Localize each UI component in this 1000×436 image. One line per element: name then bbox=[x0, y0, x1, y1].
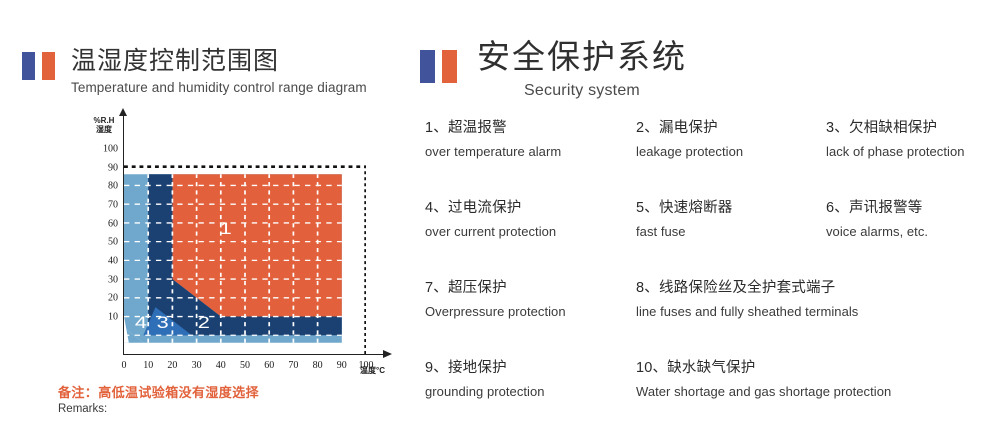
feature-label-chinese: 5、快速熔断器 bbox=[636, 196, 826, 217]
security-system-panel: 安全保护系统 Security system 1、超温报警 over tempe… bbox=[415, 0, 1000, 412]
feature-label-english: Water shortage and gas shortage protecti… bbox=[636, 384, 1000, 399]
feature-label-chinese: 4、过电流保护 bbox=[425, 196, 636, 217]
feature-label-chinese: 7、超压保护 bbox=[425, 276, 636, 297]
feature-row: 9、接地保护 grounding protection 10、缺水缺气保护 Wa… bbox=[425, 356, 1000, 436]
temperature-humidity-panel: 温湿度控制范围图 Temperature and humidity contro… bbox=[0, 0, 415, 412]
feature-item-8: 8、线路保险丝及全护套式端子 line fuses and fully shea… bbox=[636, 276, 1000, 356]
right-title-english: Security system bbox=[477, 82, 687, 100]
feature-item-5: 5、快速熔断器 fast fuse bbox=[636, 196, 826, 276]
y-axis-title: %R.H湿度 bbox=[88, 116, 120, 134]
feature-item-2: 2、漏电保护 leakage protection bbox=[636, 116, 826, 196]
y-tick-label: 50 bbox=[88, 237, 118, 248]
feature-label-english: voice alarms, etc. bbox=[826, 224, 1000, 239]
right-section-header: 安全保护系统 Security system bbox=[420, 40, 687, 100]
security-feature-grid: 1、超温报警 over temperature alarm 2、漏电保护 lea… bbox=[425, 116, 1000, 436]
y-tick-label: 90 bbox=[88, 162, 118, 173]
x-tick-label: 60 bbox=[256, 360, 282, 371]
temperature-humidity-chart: %R.H湿度 温度°C 100 90 80 70 60 50 40 30 20 … bbox=[88, 112, 408, 367]
feature-item-3: 3、欠相缺相保护 lack of phase protection bbox=[826, 116, 1000, 196]
x-axis-arrow-icon bbox=[383, 350, 392, 358]
chart-zone-1-area bbox=[172, 174, 341, 316]
feature-item-1: 1、超温报警 over temperature alarm bbox=[425, 116, 636, 196]
x-tick-label: 80 bbox=[305, 360, 331, 371]
accent-bar-orange-icon bbox=[42, 52, 55, 80]
remarks-block: 备注：高低温试验箱没有湿度选择 Remarks: bbox=[58, 382, 259, 415]
feature-label-english: line fuses and fully sheathed terminals bbox=[636, 304, 1000, 319]
chart-zone-label-2: 2 bbox=[198, 313, 210, 332]
y-tick-label: 100 bbox=[88, 144, 118, 155]
left-section-header: 温湿度控制范围图 Temperature and humidity contro… bbox=[22, 48, 367, 95]
chart-zone-label-1: 1 bbox=[220, 219, 232, 238]
feature-label-english: grounding protection bbox=[425, 384, 636, 399]
y-tick-label: 40 bbox=[88, 256, 118, 267]
feature-label-chinese: 8、线路保险丝及全护套式端子 bbox=[636, 276, 1000, 297]
y-tick-label: 80 bbox=[88, 181, 118, 192]
accent-bars-icon bbox=[22, 52, 55, 80]
left-title-english: Temperature and humidity control range d… bbox=[71, 80, 367, 95]
accent-bar-orange-icon bbox=[442, 50, 457, 83]
feature-row: 4、过电流保护 over current protection 5、快速熔断器 … bbox=[425, 196, 1000, 276]
chart-zone-label-4: 4 bbox=[135, 313, 147, 332]
x-tick-label: 40 bbox=[208, 360, 234, 371]
feature-label-chinese: 9、接地保护 bbox=[425, 356, 636, 377]
feature-item-4: 4、过电流保护 over current protection bbox=[425, 196, 636, 276]
chart-zone-label-3: 3 bbox=[157, 313, 169, 332]
feature-label-english: over current protection bbox=[425, 224, 636, 239]
accent-bar-blue-icon bbox=[22, 52, 35, 80]
feature-row: 7、超压保护 Overpressure protection 8、线路保险丝及全… bbox=[425, 276, 1000, 356]
accent-bars-icon bbox=[420, 50, 457, 83]
remarks-chinese: 备注：高低温试验箱没有湿度选择 bbox=[58, 382, 259, 401]
x-tick-label: 10 bbox=[135, 360, 161, 371]
feature-label-chinese: 2、漏电保护 bbox=[636, 116, 826, 137]
feature-label-chinese: 1、超温报警 bbox=[425, 116, 636, 137]
y-tick-label: 70 bbox=[88, 200, 118, 211]
x-tick-label: 100 bbox=[353, 360, 379, 371]
left-title-chinese: 温湿度控制范围图 bbox=[71, 48, 367, 74]
feature-label-english: lack of phase protection bbox=[826, 144, 1000, 159]
x-tick-label: 20 bbox=[159, 360, 185, 371]
remarks-english: Remarks: bbox=[58, 403, 259, 415]
feature-item-9: 9、接地保护 grounding protection bbox=[425, 356, 636, 436]
feature-label-english: Overpressure protection bbox=[425, 304, 636, 319]
feature-label-english: fast fuse bbox=[636, 224, 826, 239]
x-tick-label: 70 bbox=[280, 360, 306, 371]
x-tick-label: 50 bbox=[232, 360, 258, 371]
feature-row: 1、超温报警 over temperature alarm 2、漏电保护 lea… bbox=[425, 116, 1000, 196]
y-tick-label: 10 bbox=[88, 312, 118, 323]
x-axis-line bbox=[123, 354, 385, 355]
feature-label-chinese: 10、缺水缺气保护 bbox=[636, 356, 1000, 377]
feature-item-10: 10、缺水缺气保护 Water shortage and gas shortag… bbox=[636, 356, 1000, 436]
feature-label-chinese: 6、声讯报警等 bbox=[826, 196, 1000, 217]
feature-label-chinese: 3、欠相缺相保护 bbox=[826, 116, 1000, 137]
y-tick-label: 30 bbox=[88, 274, 118, 285]
y-tick-label: 20 bbox=[88, 293, 118, 304]
accent-bar-blue-icon bbox=[420, 50, 435, 83]
feature-label-english: leakage protection bbox=[636, 144, 826, 159]
x-tick-label: 30 bbox=[184, 360, 210, 371]
feature-label-english: over temperature alarm bbox=[425, 144, 636, 159]
x-tick-label: 0 bbox=[111, 360, 137, 371]
right-title-chinese: 安全保护系统 bbox=[477, 40, 687, 75]
y-tick-label: 60 bbox=[88, 218, 118, 229]
chart-zones-svg: 1 2 3 4 bbox=[124, 148, 366, 354]
feature-item-7: 7、超压保护 Overpressure protection bbox=[425, 276, 636, 356]
x-tick-label: 90 bbox=[329, 360, 355, 371]
chart-plot-area: 1 2 3 4 bbox=[124, 148, 366, 354]
feature-item-6: 6、声讯报警等 voice alarms, etc. bbox=[826, 196, 1000, 276]
